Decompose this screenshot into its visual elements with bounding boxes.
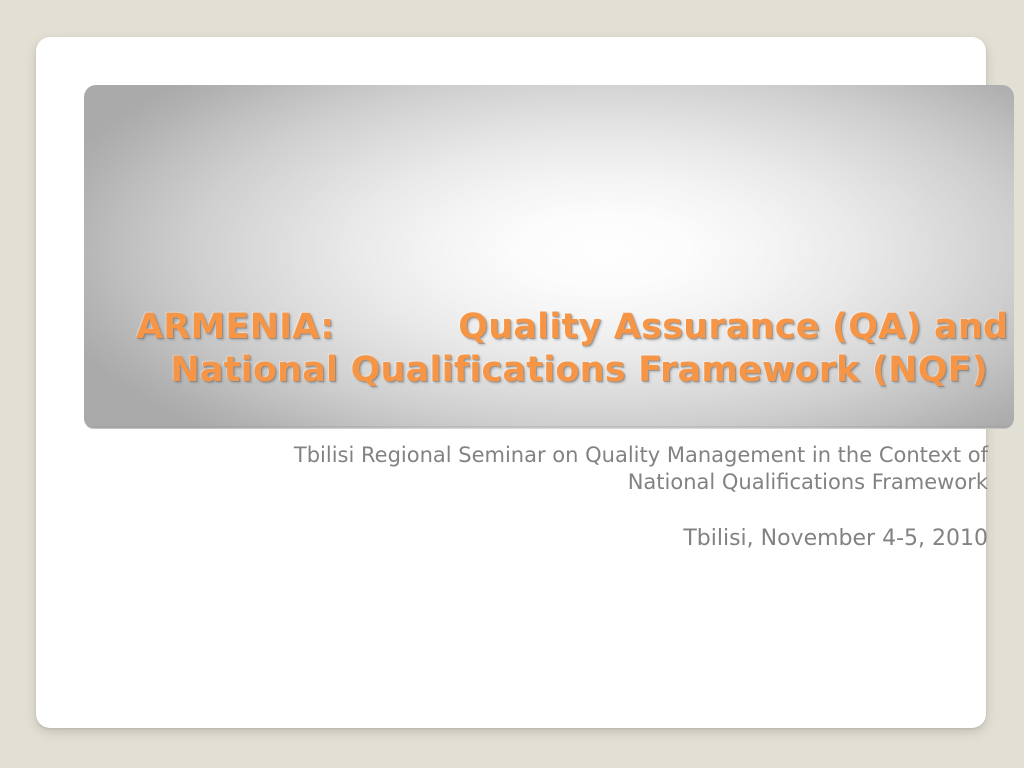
subtitle-line-1: Tbilisi Regional Seminar on Quality Mana… [132, 442, 988, 469]
title-gradient-banner [84, 85, 1014, 429]
subtitle-line-2: National Qualifications Framework [132, 469, 988, 496]
subtitle-date: Tbilisi, November 4-5, 2010 [132, 525, 988, 554]
slide-subtitle: Tbilisi Regional Seminar on Quality Mana… [132, 442, 988, 553]
slide-page: ARMENIA: Quality Assurance (QA) and Nati… [36, 37, 986, 728]
slide-stage: ARMENIA: Quality Assurance (QA) and Nati… [0, 0, 1024, 768]
